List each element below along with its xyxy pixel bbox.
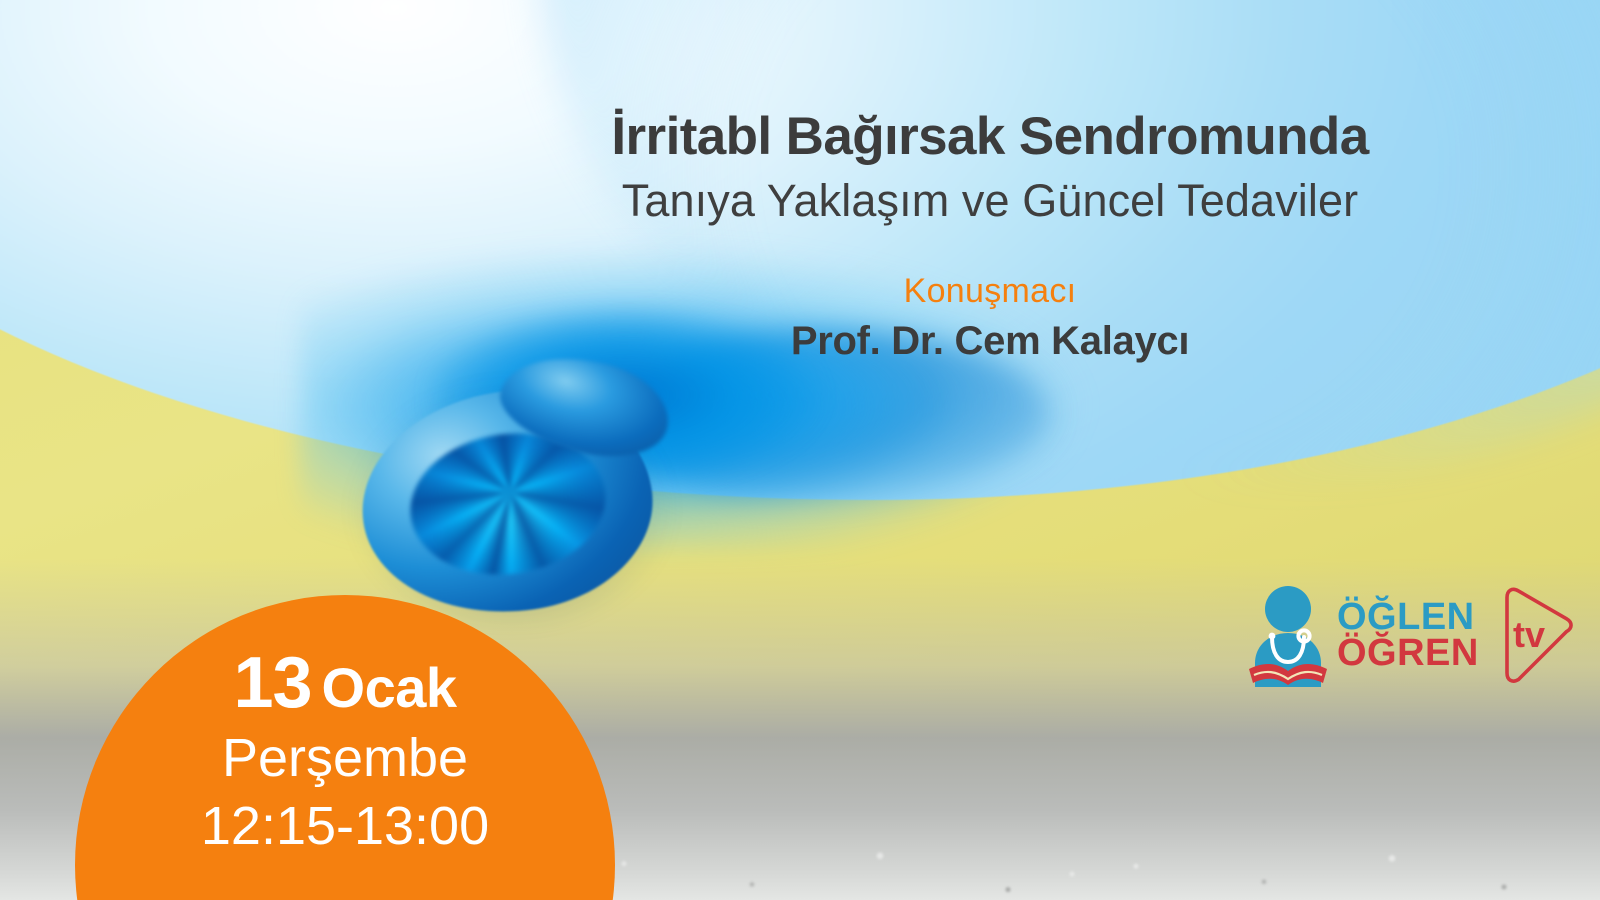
page-title: İrritabl Bağırsak Sendromunda: [500, 108, 1480, 166]
speaker-block: Konuşmacı Prof. Dr. Cem Kalaycı: [500, 272, 1480, 364]
date-weekday: Perşembe: [222, 727, 468, 789]
logo-word-oglen: ÖĞLEN: [1337, 599, 1479, 635]
date-day-month: 13Ocak: [233, 647, 456, 719]
date-day: 13: [233, 643, 311, 723]
page-subtitle: Tanıya Yaklaşım ve Güncel Tedaviler: [500, 174, 1480, 228]
balloon-knot-icon: [352, 352, 672, 614]
doctor-reading-book-icon: [1245, 583, 1331, 687]
brand-logo[interactable]: ÖĞLEN ÖĞREN tv: [1245, 580, 1560, 690]
date-time-range: 12:15-13:00: [201, 795, 489, 857]
logo-wordmark: ÖĞLEN ÖĞREN: [1337, 599, 1479, 672]
speaker-name: Prof. Dr. Cem Kalaycı: [500, 319, 1480, 364]
play-triangle-icon: tv: [1487, 585, 1583, 685]
webinar-poster: İrritabl Bağırsak Sendromunda Tanıya Yak…: [0, 0, 1600, 900]
logo-word-ogren: ÖĞREN: [1337, 635, 1479, 671]
speaker-label: Konuşmacı: [500, 272, 1480, 311]
headline-block: İrritabl Bağırsak Sendromunda Tanıya Yak…: [500, 108, 1480, 364]
logo-tv-label: tv: [1513, 614, 1545, 655]
date-month: Ocak: [322, 656, 457, 719]
